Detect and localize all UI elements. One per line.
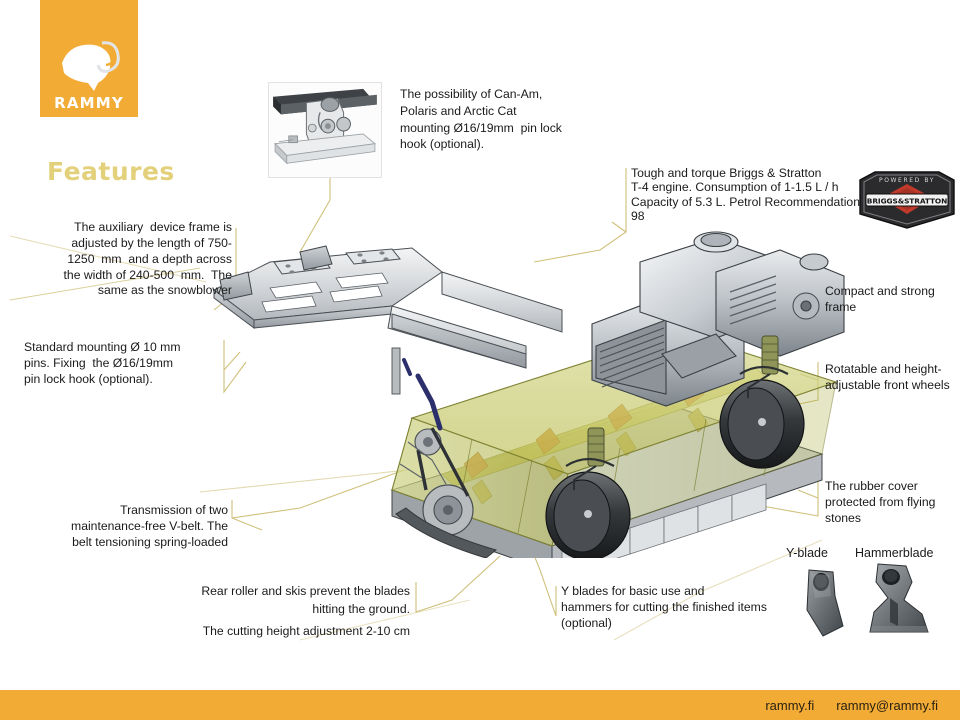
transmission-callout: Transmission of two maintenance-free V-b…	[20, 503, 228, 551]
hammerblade-image	[860, 560, 936, 640]
callout-line: 98	[631, 209, 871, 223]
callout-line: The rubber cover	[825, 479, 955, 495]
callout-line: frame	[825, 300, 955, 316]
flail-mower-illustration	[196, 228, 846, 558]
callout-line: The auxiliary device frame is	[18, 220, 232, 236]
blades-callout: Y blades for basic use and hammers for c…	[561, 584, 791, 632]
callout-line: Rotatable and height-	[825, 362, 960, 378]
footer-email[interactable]: rammy@rammy.fi	[836, 698, 938, 713]
compact-frame-callout: Compact and strong frame	[825, 284, 955, 316]
callout-line: hook (optional).	[400, 136, 590, 153]
y-blade-label: Y-blade	[786, 546, 828, 560]
y-blade-image	[795, 566, 857, 640]
logo-wordmark: RAMMY	[54, 96, 124, 111]
callout-line: Standard mounting Ø 10 mm	[24, 340, 214, 356]
callout-line: belt tensioning spring-loaded	[20, 535, 228, 551]
mounting-pins-callout: Standard mounting Ø 10 mm pins. Fixing t…	[24, 340, 214, 388]
callout-line: Tough and torque Briggs & Stratton	[631, 166, 871, 180]
hitch-callout: The possibility of Can-Am, Polaris and A…	[400, 86, 590, 153]
callout-line: hammers for cutting the finished items	[561, 600, 791, 616]
callout-line: hitting the ground.	[175, 601, 410, 619]
callout-line: mounting Ø16/19mm pin lock	[400, 120, 590, 137]
callout-line: Compact and strong	[825, 284, 955, 300]
callout-line: Y blades for basic use and	[561, 584, 791, 600]
rear-roller-callout: Rear roller and skis prevent the blades …	[175, 583, 410, 641]
callout-line: T-4 engine. Consumption of 1-1.5 L / h	[631, 180, 871, 194]
hitch-inset-image	[268, 82, 382, 178]
callout-line: protected from flying	[825, 495, 955, 511]
callout-line: adjustable front wheels	[825, 378, 960, 394]
callout-line: The possibility of Can-Am,	[400, 86, 590, 103]
callout-line: pins. Fixing the Ø16/19mm	[24, 356, 214, 372]
footer-website[interactable]: rammy.fi	[765, 698, 814, 713]
slide-canvas: RAMMY Features The possibility of Can-Am…	[0, 0, 960, 720]
briggs-stratton-badge: POWERED BY BRIGGS&STRATTON	[857, 170, 957, 230]
callout-line: adjusted by the length of 750-	[18, 236, 232, 252]
frame-adjust-callout: The auxiliary device frame is adjusted b…	[18, 220, 232, 299]
callout-line: maintenance-free V-belt. The	[20, 519, 228, 535]
callout-line: Capacity of 5.3 L. Petrol Recommendation	[631, 195, 871, 209]
badge-brand-text: BRIGGS&STRATTON	[867, 196, 947, 205]
rubber-cover-callout: The rubber cover protected from flying s…	[825, 479, 955, 527]
callout-line: same as the snowblower	[18, 283, 232, 299]
callout-line: Polaris and Arctic Cat	[400, 103, 590, 120]
callout-line: Transmission of two	[20, 503, 228, 519]
rammy-logo: RAMMY	[40, 0, 138, 117]
footer-bar: rammy.fi rammy@rammy.fi	[0, 690, 960, 720]
callout-line: 1250 mm and a depth across	[18, 252, 232, 268]
ram-head-icon	[54, 33, 124, 95]
callout-line: The cutting height adjustment 2-10 cm	[175, 623, 410, 641]
callout-line: (optional)	[561, 616, 791, 632]
engine-callout: Tough and torque Briggs & Stratton T-4 e…	[631, 166, 871, 224]
badge-top-text: POWERED BY	[879, 177, 935, 184]
callout-line: stones	[825, 511, 955, 527]
callout-line: pin lock hook (optional).	[24, 372, 214, 388]
front-wheels-callout: Rotatable and height- adjustable front w…	[825, 362, 960, 394]
hammerblade-label: Hammerblade	[855, 546, 934, 560]
page-title: Features	[47, 157, 175, 186]
callout-line: the width of 240-500 mm. The	[18, 268, 232, 284]
callout-line: Rear roller and skis prevent the blades	[175, 583, 410, 601]
